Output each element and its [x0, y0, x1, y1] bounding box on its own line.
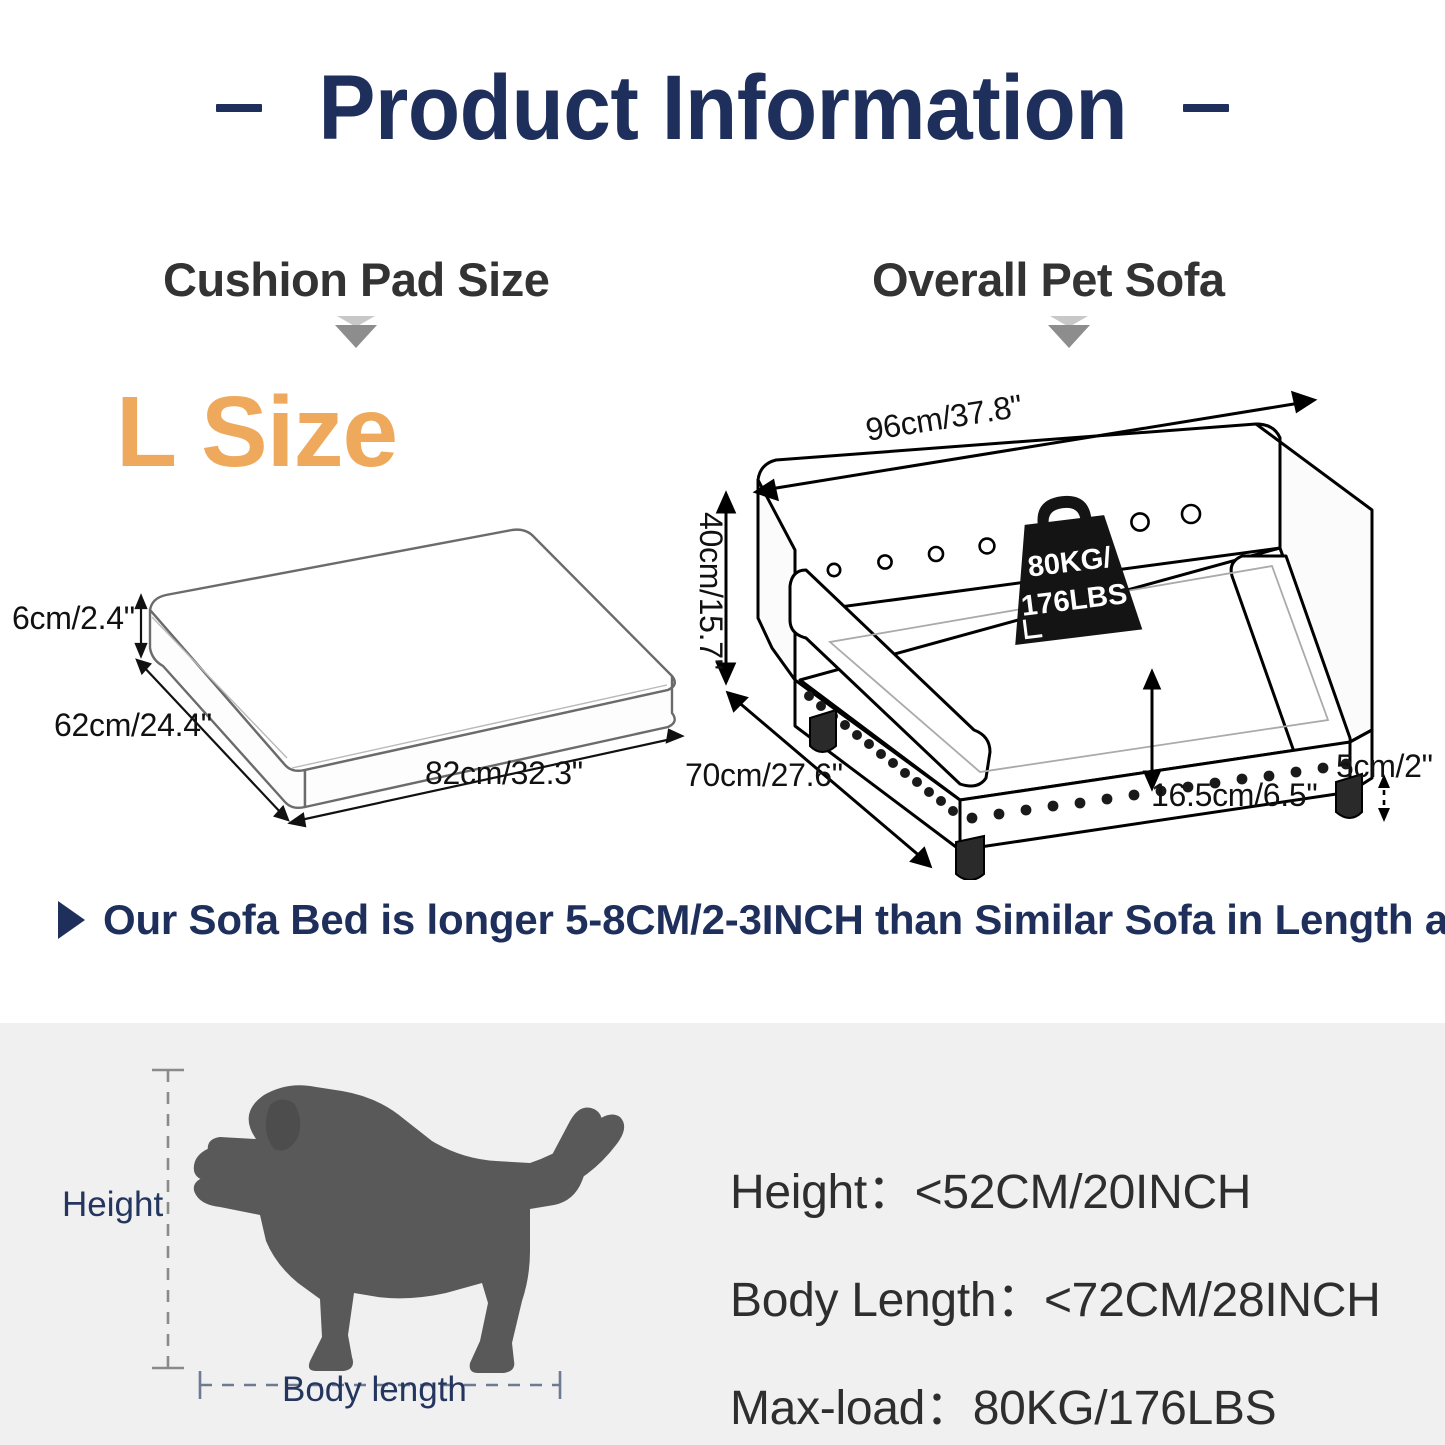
sofa-depth-label: 70cm/27.6": [685, 757, 843, 794]
cushion-thickness-label: 6cm/2.4": [12, 600, 135, 637]
spec-body-length: Body Length：<72CM/28INCH: [730, 1260, 1380, 1330]
cushion-pad-illustration: [0, 480, 740, 840]
double-chevron-down-icon: [1046, 316, 1092, 354]
sofa-section-heading: Overall Pet Sofa: [872, 252, 1225, 307]
spec-height: Height：<52CM/20INCH: [730, 1152, 1380, 1222]
sofa-base-height-label: 16.5cm/6.5": [1151, 777, 1317, 814]
cushion-depth-label: 62cm/24.4": [54, 707, 212, 744]
pet-spec-list: Height：<52CM/20INCH Body Length：<72CM/28…: [730, 1152, 1380, 1438]
page-title: Product Information: [0, 62, 1445, 154]
cushion-width-label: 82cm/32.3": [425, 755, 583, 792]
sofa-height-label: 40cm/15.7": [692, 512, 729, 670]
pet-sofa-illustration: 80KG/ 176LBS: [660, 380, 1445, 880]
page-title-text: Product Information: [318, 62, 1127, 154]
dog-body-length-label: Body length: [282, 1370, 467, 1410]
product-information-infographic: Product Information Cushion Pad Size Ove…: [0, 0, 1445, 1445]
chevron-bottom: [335, 325, 377, 348]
size-badge: L Size: [116, 382, 397, 482]
title-dash-right: [1183, 104, 1229, 112]
sofa-leg-height-label: 5cm/2": [1336, 748, 1433, 785]
chevron-bottom: [1048, 325, 1090, 348]
highlight-banner-text: Our Sofa Bed is longer 5-8CM/2-3INCH tha…: [103, 896, 1445, 944]
triangle-right-icon: [58, 901, 85, 939]
highlight-banner: Our Sofa Bed is longer 5-8CM/2-3INCH tha…: [58, 896, 1445, 944]
title-dash-left: [216, 104, 262, 112]
cushion-section-heading: Cushion Pad Size: [163, 252, 549, 307]
double-chevron-down-icon: [333, 316, 379, 354]
spec-max-load: Max-load：80KG/176LBS: [730, 1368, 1380, 1438]
dog-height-label: Height: [62, 1185, 163, 1225]
